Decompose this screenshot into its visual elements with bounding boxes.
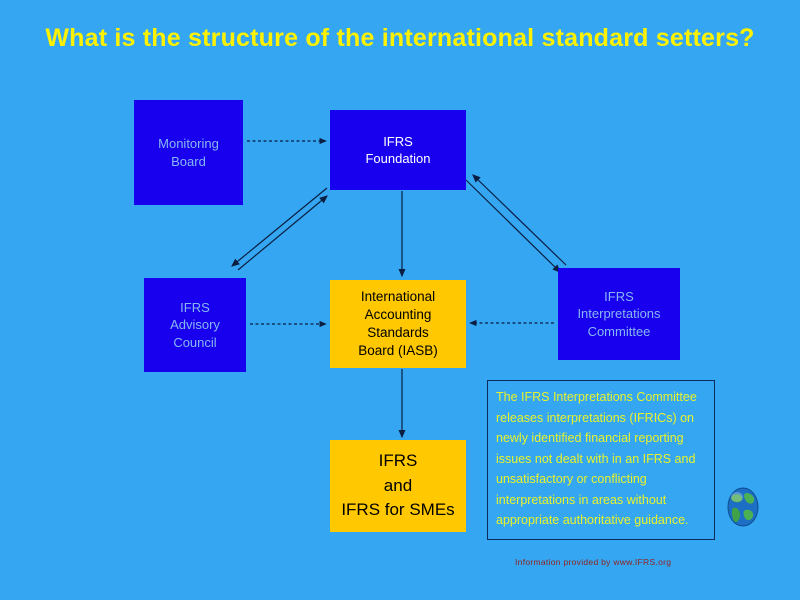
slide-canvas: What is the structure of the internation…	[0, 0, 800, 600]
node-ifrs-and-ifrs-for-smes-line-3: IFRS for SMEs	[341, 498, 454, 523]
connector-advisory-council-to-foundation	[232, 188, 327, 266]
node-ifrs-interpretations-committee-line-1: IFRS	[577, 288, 660, 305]
node-ifrs-foundation-line-1: IFRS	[365, 133, 430, 150]
node-ifrs-and-ifrs-for-smes-line-1: IFRS	[341, 449, 454, 474]
node-iasb-line-4: Board (IASB)	[358, 342, 438, 360]
connector-interpretations-committee-to-foundation	[473, 175, 566, 265]
node-monitoring-board[interactable]: Monitoring Board	[134, 100, 243, 205]
node-iasb-line-3: Standards	[358, 324, 438, 342]
node-ifrs-advisory-council-line-1: IFRS	[170, 299, 220, 316]
node-ifrs-and-ifrs-for-smes[interactable]: IFRS and IFRS for SMEs	[330, 440, 466, 532]
interpretations-committee-callout: The IFRS Interpretations Committee relea…	[487, 380, 715, 540]
page-title: What is the structure of the internation…	[0, 24, 800, 53]
connector-foundation-to-advisory-council	[238, 196, 327, 270]
node-ifrs-foundation[interactable]: IFRS Foundation	[330, 110, 466, 190]
node-ifrs-and-ifrs-for-smes-line-2: and	[341, 474, 454, 499]
node-ifrs-advisory-council-line-3: Council	[170, 334, 220, 351]
footer-credit: Information provided by www.IFRS.org	[515, 557, 671, 567]
node-ifrs-interpretations-committee-line-3: Committee	[577, 323, 660, 340]
node-iasb-line-2: Accounting	[358, 306, 438, 324]
node-ifrs-interpretations-committee-line-2: Interpretations	[577, 305, 660, 322]
globe-icon	[724, 486, 762, 528]
connector-foundation-to-interpretations-committee	[466, 180, 560, 272]
node-ifrs-advisory-council[interactable]: IFRS Advisory Council	[144, 278, 246, 372]
node-monitoring-board-line-2: Board	[158, 153, 219, 170]
node-ifrs-interpretations-committee[interactable]: IFRS Interpretations Committee	[558, 268, 680, 360]
node-iasb[interactable]: International Accounting Standards Board…	[330, 280, 466, 368]
node-iasb-line-1: International	[358, 288, 438, 306]
node-ifrs-advisory-council-line-2: Advisory	[170, 316, 220, 333]
node-monitoring-board-line-1: Monitoring	[158, 135, 219, 152]
node-ifrs-foundation-line-2: Foundation	[365, 150, 430, 167]
